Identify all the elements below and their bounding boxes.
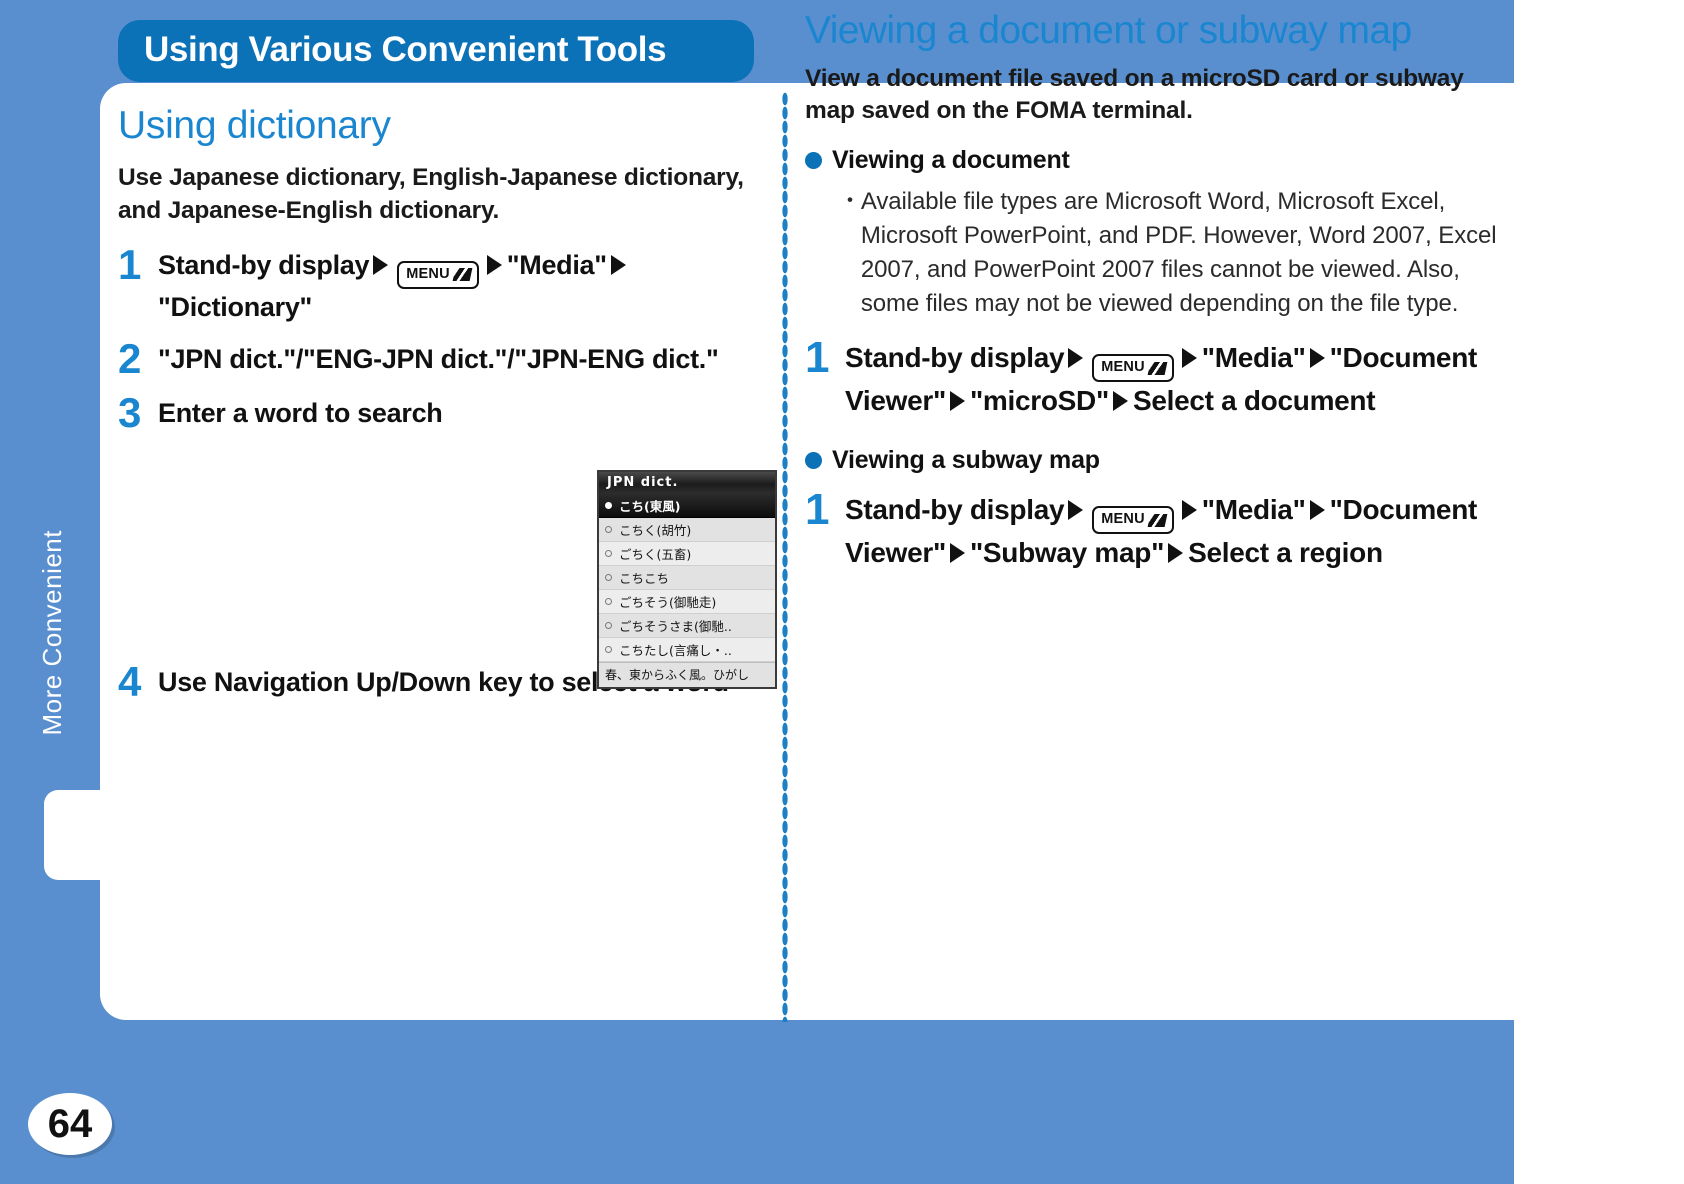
doc-step-text-d: "microSD" — [970, 385, 1109, 416]
arrow-icon — [373, 255, 388, 275]
arrow-icon — [487, 255, 502, 275]
menu-slash-icon — [1147, 514, 1167, 527]
arrow-icon — [1068, 348, 1083, 368]
mockup-list-item-label: こちく(胡竹) — [619, 520, 691, 539]
section-banner: Using Various Convenient Tools — [118, 20, 754, 82]
mockup-list-item-label: ごちそう(御馳走) — [619, 592, 716, 611]
phone-screen-mockup: JPN dict. こち(東風) こちく(胡竹) ごちく(五畜) こちこち ごち… — [597, 470, 777, 689]
step-2-number: 2 — [118, 339, 158, 379]
map-step-text-e: Select a region — [1188, 537, 1383, 568]
step-2-text: "JPN dict."/"ENG-JPN dict."/"JPN-ENG dic… — [158, 339, 773, 377]
mockup-list-item: こちこち — [599, 566, 775, 590]
arrow-icon — [1182, 348, 1197, 368]
mockup-list-item: こち(東風) — [599, 494, 775, 518]
note-text: Available file types are Microsoft Word,… — [861, 185, 1505, 321]
bullet-dot-icon — [805, 152, 822, 169]
doc-step-text-a: Stand-by display — [845, 342, 1064, 373]
arrow-icon — [950, 391, 965, 411]
arrow-icon — [950, 543, 965, 563]
map-step-text-a: Stand-by display — [845, 494, 1064, 525]
subsection-viewing-a-subway-map: Viewing a subway map — [805, 446, 1505, 475]
map-step-text-d: "Subway map" — [970, 537, 1164, 568]
left-lead-text: Use Japanese dictionary, English-Japanes… — [118, 162, 773, 227]
mockup-list-item: こちたし(言痛し・.. — [599, 638, 775, 662]
step-1-text-c: "Dictionary" — [158, 292, 312, 322]
arrow-icon — [1310, 348, 1325, 368]
menu-slash-icon — [452, 268, 472, 281]
mockup-list-item-label: こちたし(言痛し・.. — [619, 640, 732, 659]
step-1-number: 1 — [118, 245, 158, 285]
right-lead-text: View a document file saved on a microSD … — [805, 63, 1505, 128]
menu-key-icon: MENU — [1092, 354, 1174, 382]
mockup-list-item-label: ごちそうさま(御馳.. — [619, 616, 732, 635]
subsection-viewing-a-document: Viewing a document — [805, 146, 1505, 175]
doc-step-text-e: Select a document — [1133, 385, 1375, 416]
arrow-icon — [1310, 500, 1325, 520]
selected-marker-icon — [605, 502, 612, 509]
arrow-icon — [1068, 500, 1083, 520]
menu-key-label: MENU — [1101, 510, 1145, 530]
step-2: 2 "JPN dict."/"ENG-JPN dict."/"JPN-ENG d… — [118, 339, 773, 379]
arrow-icon — [611, 255, 626, 275]
sidebar-tab-notch — [44, 790, 124, 880]
bullet-dot-icon — [805, 452, 822, 469]
step-1-text-b: "Media" — [507, 250, 607, 280]
map-step-text-b: "Media" — [1202, 494, 1306, 525]
document-step-1-text: Stand-by displayMENU"Media""Document Vie… — [845, 337, 1505, 420]
step-1-text: Stand-by displayMENU"Media""Dictionary" — [158, 245, 773, 325]
mockup-definition-footer: 春、東からふく風。ひがし — [599, 662, 775, 687]
page-number-badge: 64 — [28, 1093, 112, 1155]
subsection-label: Viewing a subway map — [832, 446, 1100, 475]
arrow-icon — [1113, 391, 1128, 411]
bullet-marker-icon — [605, 598, 612, 605]
step-3-number: 3 — [118, 393, 158, 433]
bullet-marker-icon — [605, 646, 612, 653]
step-1: 1 Stand-by displayMENU"Media""Dictionary… — [118, 245, 773, 325]
arrow-icon — [1168, 543, 1183, 563]
note-marker-icon: ・ — [839, 185, 861, 321]
doc-step-text-b: "Media" — [1202, 342, 1306, 373]
bullet-marker-icon — [605, 526, 612, 533]
map-step-1-text: Stand-by displayMENU"Media""Document Vie… — [845, 489, 1505, 572]
bullet-marker-icon — [605, 622, 612, 629]
right-section-title: Viewing a document or subway map — [805, 10, 1505, 53]
document-step-1: 1 Stand-by displayMENU"Media""Document V… — [805, 337, 1505, 420]
step-1-text-a: Stand-by display — [158, 250, 369, 280]
mockup-title-bar: JPN dict. — [599, 472, 775, 494]
column-divider — [782, 92, 788, 1022]
mockup-list-item-label: ごちく(五畜) — [619, 544, 691, 563]
sidebar-chapter-label: More Convenient — [28, 530, 76, 736]
page-number: 64 — [48, 1104, 93, 1144]
menu-key-label: MENU — [406, 265, 450, 285]
mockup-list-item: ごちそうさま(御馳.. — [599, 614, 775, 638]
mockup-list-item-label: こち(東風) — [619, 496, 680, 515]
map-step-1: 1 Stand-by displayMENU"Media""Document V… — [805, 489, 1505, 572]
menu-slash-icon — [1147, 362, 1167, 375]
bullet-marker-icon — [605, 574, 612, 581]
right-column: Viewing a document or subway map View a … — [805, 10, 1505, 586]
arrow-icon — [1182, 500, 1197, 520]
step-3: 3 Enter a word to search — [118, 393, 773, 433]
mockup-list-item: ごちく(五畜) — [599, 542, 775, 566]
mockup-list-item-label: こちこち — [619, 568, 669, 587]
document-step-1-number: 1 — [805, 337, 845, 379]
menu-key-icon: MENU — [397, 261, 479, 289]
step-3-text: Enter a word to search — [158, 393, 773, 431]
left-column: Using Various Convenient Tools Using dic… — [118, 20, 773, 716]
mockup-list-item: ごちそう(御馳走) — [599, 590, 775, 614]
menu-key-icon: MENU — [1092, 506, 1174, 534]
document-note: ・ Available file types are Microsoft Wor… — [839, 185, 1505, 321]
manual-page: More Convenient 64 Using Various Conveni… — [0, 0, 1684, 1184]
subsection-label: Viewing a document — [832, 146, 1070, 175]
bullet-marker-icon — [605, 550, 612, 557]
menu-key-label: MENU — [1101, 358, 1145, 378]
mockup-list-item: こちく(胡竹) — [599, 518, 775, 542]
left-section-title: Using dictionary — [118, 104, 773, 148]
map-step-1-number: 1 — [805, 489, 845, 531]
step-4-number: 4 — [118, 662, 158, 702]
